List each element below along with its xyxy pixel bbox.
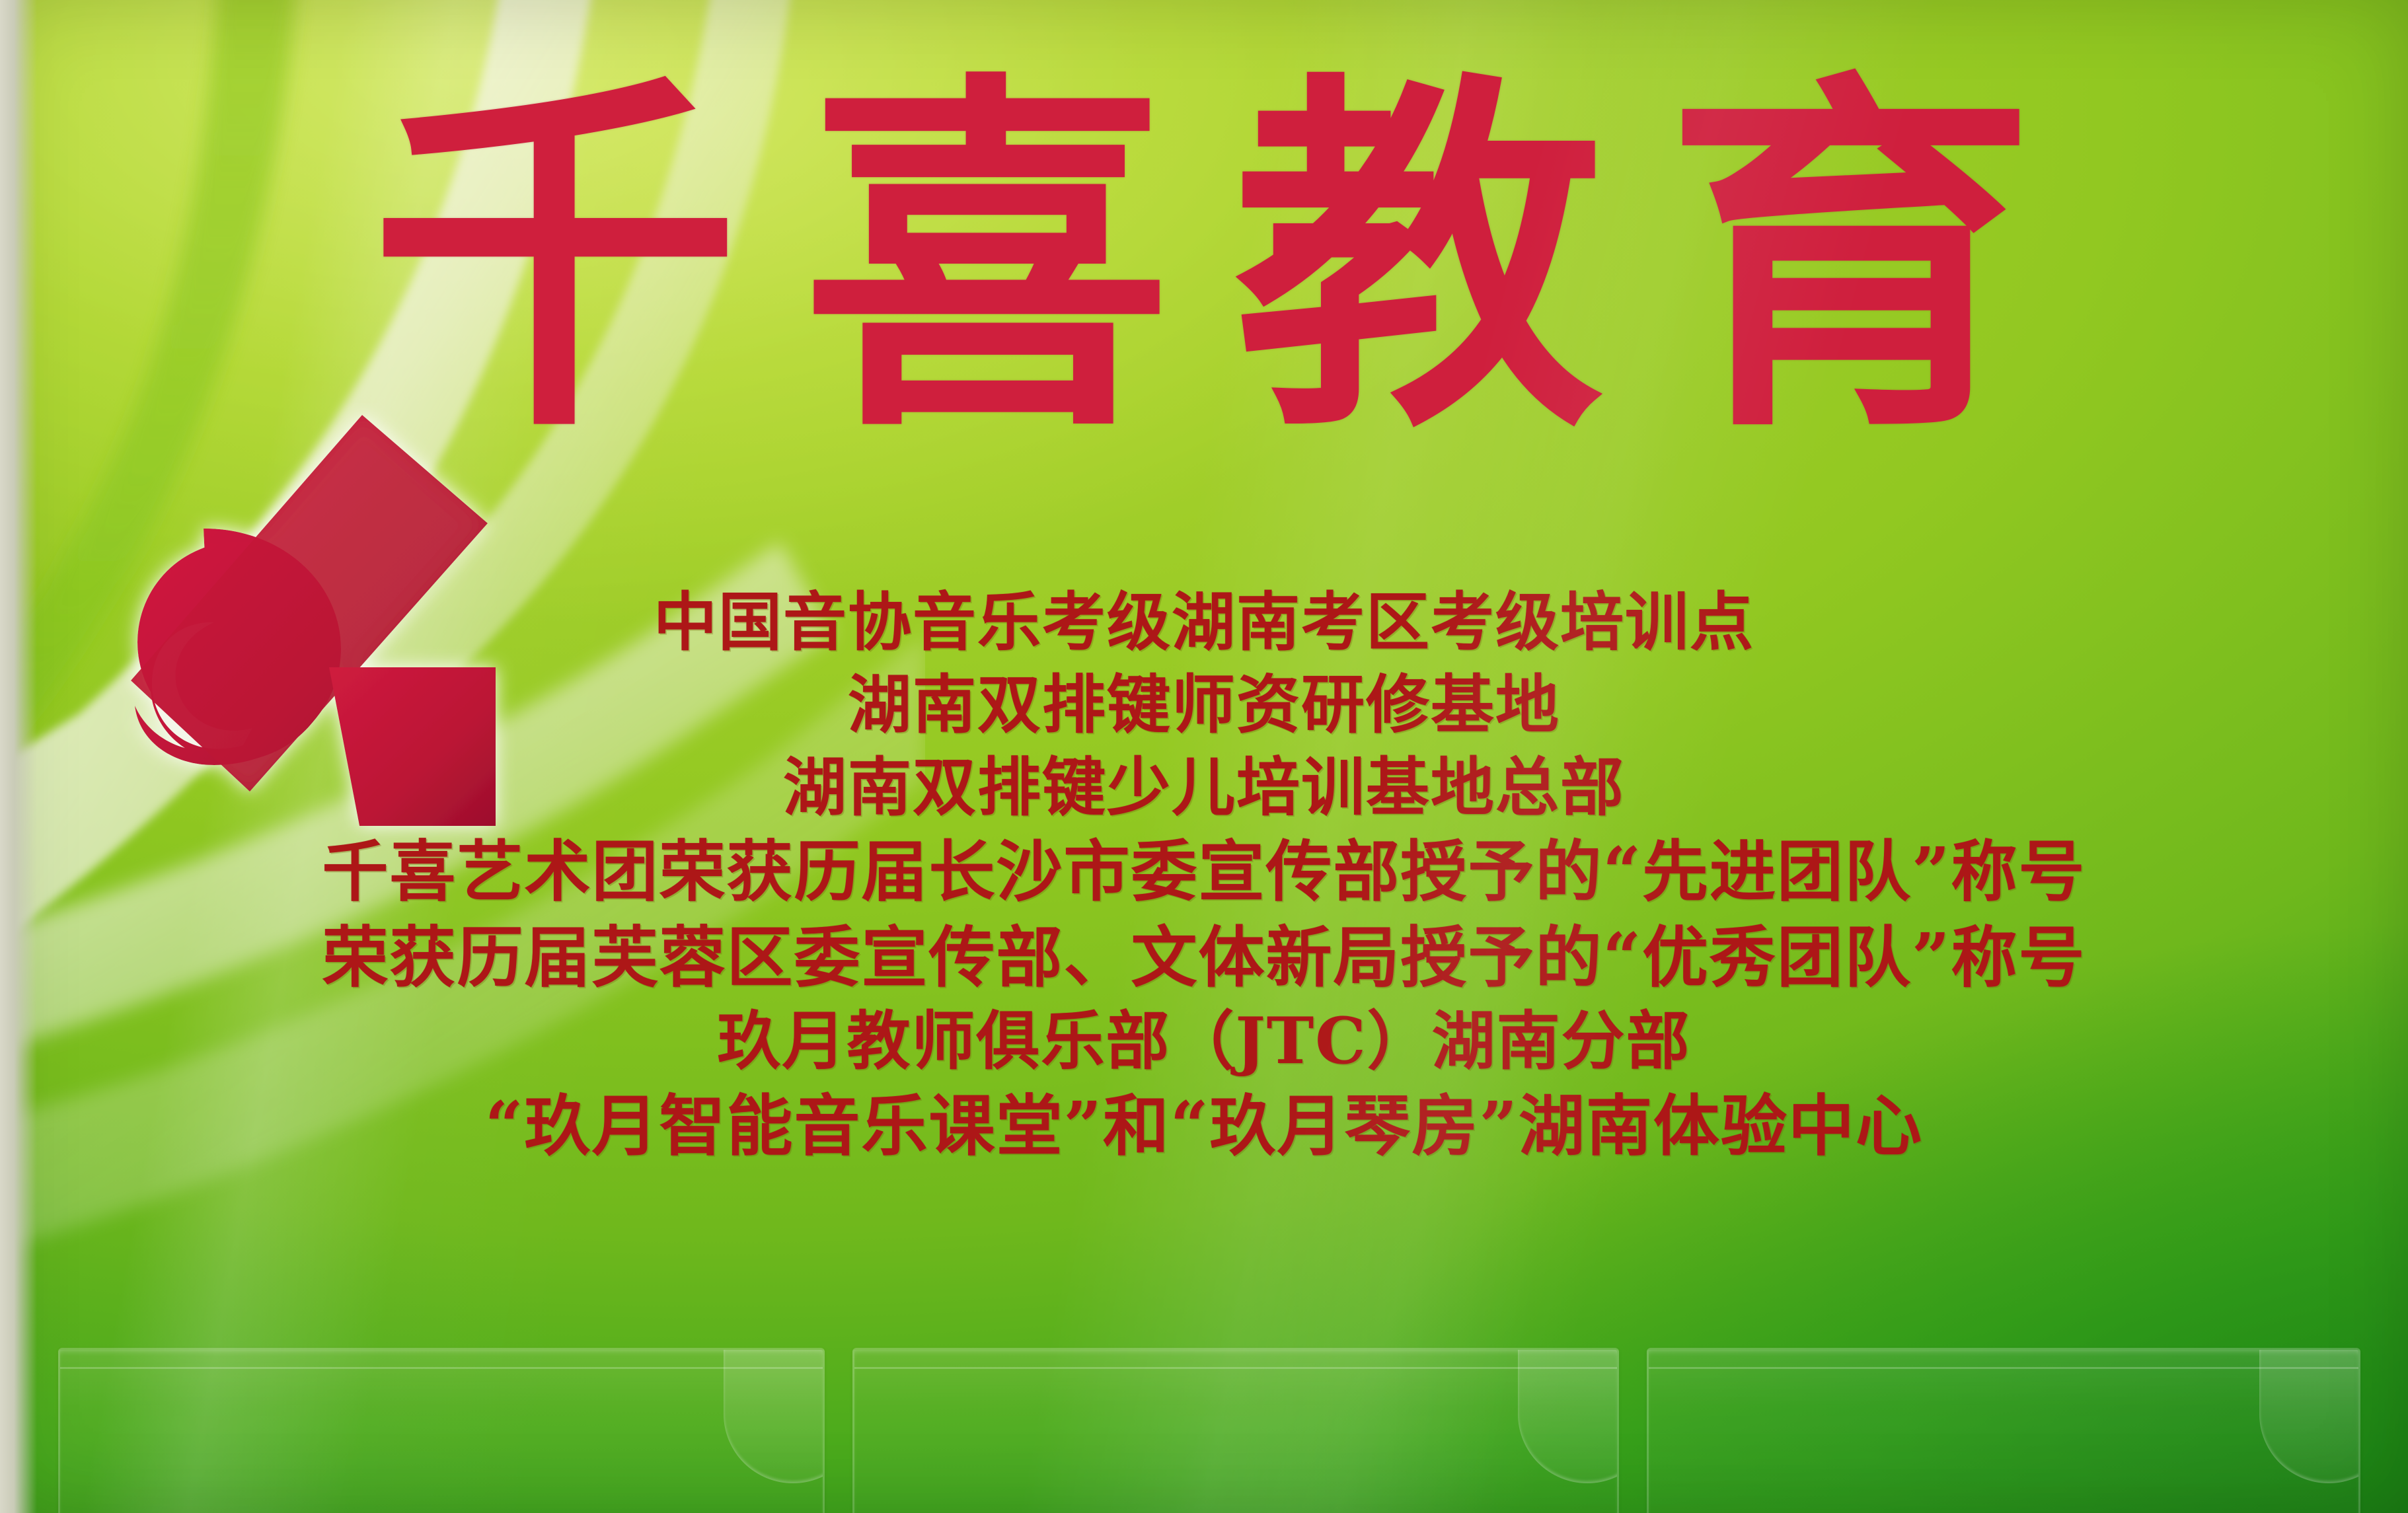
credential-list: 中国音协音乐考级湖南考区考级培训点 湖南双排键师资研修基地 湖南双排键少儿培训基… — [0, 581, 2408, 1169]
credential-line: 玖月教师俱乐部（JTC）湖南分部 — [717, 1000, 1690, 1083]
holder-notch — [1518, 1348, 1619, 1483]
title-char-3: 教 — [1234, 74, 1604, 444]
brochure-holder-row — [0, 1348, 2408, 1513]
title-char-1: 千 — [370, 74, 740, 444]
holder-notch — [724, 1348, 825, 1483]
brochure-holder-3[interactable] — [1647, 1348, 2360, 1513]
credential-line: 湖南双排键师资研修基地 — [848, 664, 1560, 747]
credential-line: “玖月智能音乐课堂”和“玖月琴房”湖南体验中心 — [485, 1083, 1923, 1169]
credential-line: 中国音协音乐考级湖南考区考级培训点 — [654, 581, 1754, 664]
title-char-2: 喜 — [802, 74, 1172, 444]
brochure-holder-2[interactable] — [852, 1348, 1619, 1513]
signage-board: 千 喜 教 育 中国音协音乐考级湖南考区考级培训点 湖南双排键师资研修基地 湖南… — [0, 0, 2408, 1513]
holder-notch — [2259, 1348, 2360, 1483]
sign-title: 千 喜 教 育 — [370, 48, 2035, 470]
credential-line: 千喜艺术团荣获历届长沙市委宣传部授予的“先进团队”称号 — [322, 829, 2086, 914]
credential-line: 湖南双排键少儿培训基地总部 — [783, 747, 1625, 829]
title-char-4: 育 — [1665, 74, 2035, 444]
brochure-holder-1[interactable] — [58, 1348, 825, 1513]
credential-line: 荣获历届芙蓉区委宣传部、文体新局授予的“优秀团队”称号 — [322, 914, 2086, 1000]
